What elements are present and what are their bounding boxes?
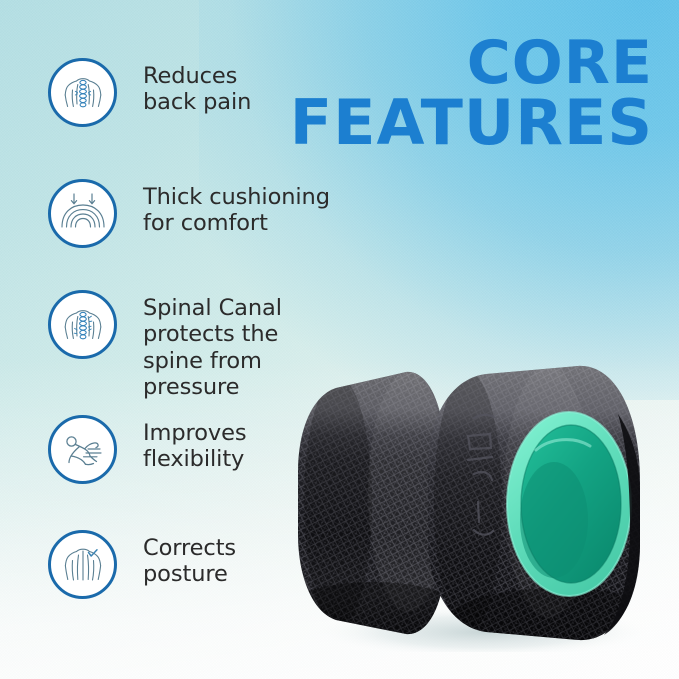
posture-check-icon <box>48 530 117 599</box>
feature-label: Thick cushioning for comfort <box>143 184 330 237</box>
cushion-arcs-down-arrows-icon <box>48 179 117 248</box>
feature-item-reduces-back-pain: Reduces back pain <box>48 58 251 127</box>
back-spine-icon <box>48 58 117 127</box>
roller-right-lobe <box>418 352 668 652</box>
feature-label: Spinal Canal protects the spine from pre… <box>143 295 282 400</box>
feature-label: Corrects posture <box>143 535 236 588</box>
title-line-features: FEATURES <box>213 94 653 152</box>
infographic-canvas: CORE FEATURES <box>0 0 679 679</box>
feature-label: Improves flexibility <box>143 420 246 473</box>
title-line-core: CORE <box>213 36 653 92</box>
feature-item-thick-cushioning: Thick cushioning for comfort <box>48 179 330 248</box>
feature-item-improves-flexibility: Improves flexibility <box>48 415 246 484</box>
feature-label: Reduces back pain <box>143 63 251 116</box>
running-figure-icon <box>48 415 117 484</box>
page-title: CORE FEATURES <box>213 36 653 151</box>
feature-item-corrects-posture: Corrects posture <box>48 530 236 599</box>
product-end-cap <box>507 412 631 596</box>
product-image-foam-roller <box>278 352 678 652</box>
spine-protection-icon <box>48 290 117 359</box>
feature-item-spinal-canal: Spinal Canal protects the spine from pre… <box>48 290 282 400</box>
